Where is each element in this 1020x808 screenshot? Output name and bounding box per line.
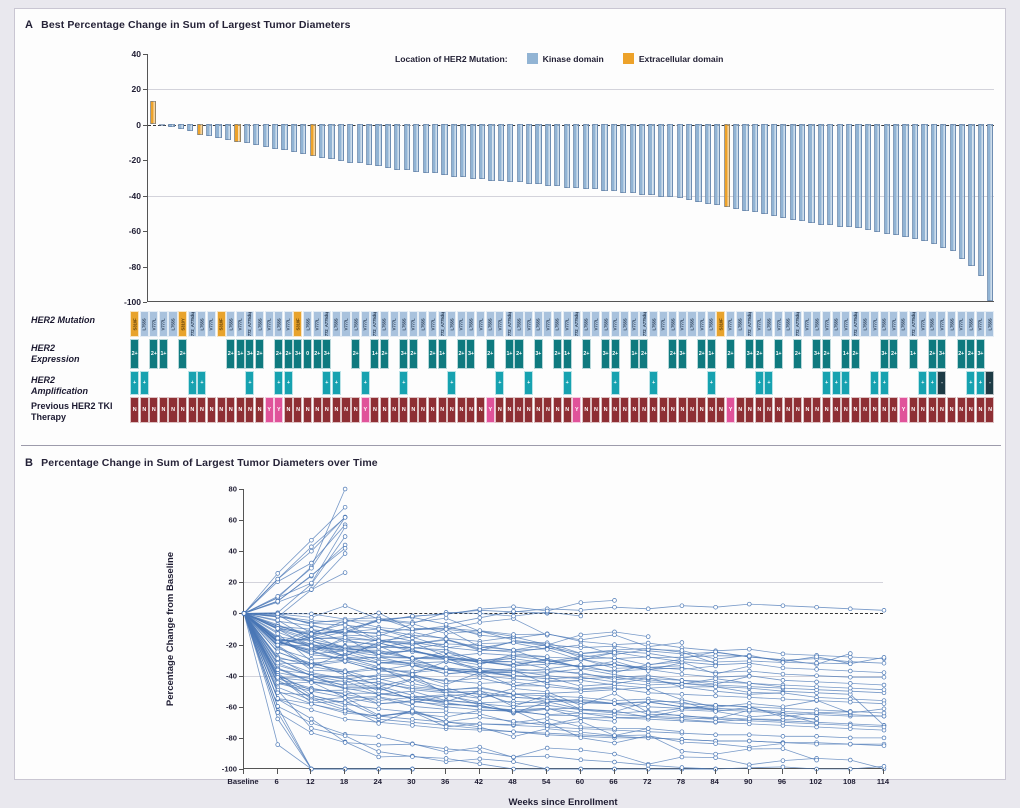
patient-trajectory-marker	[343, 629, 347, 633]
annotation-cell-text: N	[181, 407, 185, 413]
waterfall-bar	[921, 124, 927, 241]
annotation-cell-amplification: +	[649, 371, 658, 395]
annotation-cell-text: 2+	[612, 351, 618, 357]
patient-trajectory-marker	[310, 681, 314, 685]
annotation-cell-text: N	[834, 407, 838, 413]
patient-trajectory-marker	[646, 686, 650, 690]
patient-trajectory-marker	[377, 743, 381, 747]
patient-trajectory-marker	[848, 675, 852, 679]
annotation-cell-mutation: L755S	[832, 311, 841, 337]
patient-trajectory-marker	[310, 573, 314, 577]
panel-a: A Best Percentage Change in Sum of Large…	[15, 9, 1007, 433]
patient-trajectory-marker	[747, 659, 751, 663]
annotation-cell-tki: N	[418, 397, 427, 423]
annotation-cell-expression: 2+	[226, 339, 235, 369]
annotation-cell-text: N	[892, 407, 896, 413]
patient-trajectory-marker	[310, 675, 314, 679]
annotation-cell-text: 2+	[795, 351, 801, 357]
annotation-cell-text: V777L	[392, 318, 397, 330]
annotation-cell-text: L755S	[814, 318, 819, 330]
annotation-cell-text: N	[623, 407, 627, 413]
patient-trajectory-marker	[310, 588, 314, 592]
annotation-cell-mutation: L755S	[928, 311, 937, 337]
patient-trajectory-marker	[714, 660, 718, 664]
annotation-row-label-tki: Previous HER2 TKI Therapy	[31, 401, 113, 422]
patient-trajectory-marker	[310, 731, 314, 735]
annotation-cell-text: V777L	[757, 318, 762, 330]
annotation-cell-expression: 2+	[380, 339, 389, 369]
patient-trajectory-marker	[512, 652, 516, 656]
annotation-cell-expression: 2+	[514, 339, 523, 369]
patient-trajectory-marker	[680, 679, 684, 683]
patient-trajectory-marker	[276, 676, 280, 680]
annotation-cell-expression: 0	[303, 339, 312, 369]
annotation-cell-text: 2+	[670, 351, 676, 357]
annotation-cell-text: Y772_A775dup	[324, 311, 329, 337]
patient-trajectory-marker	[613, 752, 617, 756]
patient-trajectory-marker	[343, 525, 347, 529]
annotation-cell-mutation: V777L	[803, 311, 812, 337]
annotation-cell-mutation: V777L	[428, 311, 437, 337]
annotation-cell-text: L755S	[382, 318, 387, 330]
panel-b-x-tick-label: 30	[407, 777, 415, 786]
annotation-cell-mutation: L755S	[649, 311, 658, 337]
panel-a-y-axis-ticks: 40200-20-40-60-80-100	[111, 54, 147, 302]
patient-trajectory-marker	[343, 684, 347, 688]
patient-trajectory-marker	[579, 601, 583, 605]
annotation-cell-tki: N	[909, 397, 918, 423]
patient-trajectory-marker	[815, 674, 819, 678]
annotation-cell-tki: N	[514, 397, 523, 423]
panel-a-annotation-table: HER2 MutationS310FL755SV777LV777LL755SS3…	[15, 309, 1007, 427]
annotation-cell-tki: N	[860, 397, 869, 423]
patient-trajectory-marker	[310, 616, 314, 620]
patient-trajectory-marker	[310, 581, 314, 585]
patient-trajectory-marker	[747, 717, 751, 721]
annotation-cell-expression: 3+	[245, 339, 254, 369]
annotation-cell-text: 3+	[814, 351, 820, 357]
patient-trajectory-marker	[613, 691, 617, 695]
waterfall-bar	[592, 124, 598, 190]
patient-trajectory-marker	[613, 709, 617, 713]
patient-trajectory-marker	[411, 669, 415, 673]
waterfall-bar	[357, 124, 363, 163]
patient-trajectory-marker	[411, 693, 415, 697]
annotation-cell-mutation: L755S	[486, 311, 495, 337]
patient-trajectory-marker	[747, 664, 751, 668]
annotation-cell-mutation: L755S	[601, 311, 610, 337]
patient-trajectory-marker	[714, 710, 718, 714]
annotation-cell-text: 2+	[891, 351, 897, 357]
waterfall-bar	[470, 124, 476, 179]
patient-trajectory-marker	[310, 538, 314, 542]
annotation-cell-tki: N	[745, 397, 754, 423]
panel-b-title: Percentage Change in Sum of Largest Tumo…	[41, 457, 378, 469]
waterfall-bar	[526, 124, 532, 184]
patient-trajectory-marker	[310, 566, 314, 570]
annotation-cell-tki: N	[947, 397, 956, 423]
annotation-cell-mutation: L755S	[303, 311, 312, 337]
annotation-cell-text: N	[450, 407, 454, 413]
annotation-cell-text: +	[883, 380, 886, 386]
patient-trajectory-marker	[680, 700, 684, 704]
annotation-cell-mutation: L755S	[332, 311, 341, 337]
annotation-cell-mutation: Y772_A775dup	[793, 311, 802, 337]
patient-trajectory-marker	[680, 749, 684, 753]
patient-trajectory-marker	[512, 660, 516, 664]
patient-trajectory-marker	[377, 707, 381, 711]
patient-trajectory-marker	[377, 645, 381, 649]
annotation-cell-tki: N	[524, 397, 533, 423]
waterfall-bar	[611, 124, 617, 191]
annotation-cell-text: 0	[306, 351, 309, 357]
annotation-cell-text: 2+	[728, 351, 734, 357]
patient-trajectory-marker	[747, 647, 751, 651]
waterfall-bar	[554, 124, 560, 186]
panel-b-letter: B	[25, 457, 33, 469]
patient-trajectory-marker	[377, 722, 381, 726]
annotation-cell-text: N	[306, 407, 310, 413]
panel-b-x-tick-label: 18	[340, 777, 348, 786]
patient-trajectory-marker	[512, 641, 516, 645]
annotation-cell-text: L755S	[305, 318, 310, 330]
annotation-cell-expression: 2+	[409, 339, 418, 369]
patient-trajectory-marker	[343, 650, 347, 654]
patient-trajectory-marker	[882, 661, 886, 665]
waterfall-bar	[912, 124, 918, 239]
patient-trajectory-marker	[444, 650, 448, 654]
annotation-cell-text: V777L	[959, 318, 964, 330]
patient-trajectory-marker	[343, 516, 347, 520]
patient-trajectory-marker	[444, 666, 448, 670]
annotation-cell-mutation: L755S	[399, 311, 408, 337]
annotation-cell-text: -	[941, 380, 943, 386]
annotation-cell-mutation: V777L	[361, 311, 370, 337]
patient-trajectory-marker	[276, 657, 280, 661]
annotation-cell-text: L755S	[786, 318, 791, 330]
waterfall-bar	[639, 124, 645, 195]
annotation-cell-text: N	[940, 407, 944, 413]
annotation-cell-text: N	[556, 407, 560, 413]
panel-a-gridline	[148, 89, 994, 90]
annotation-cell-text: 2+	[968, 351, 974, 357]
annotation-cell-text: V777L	[891, 318, 896, 330]
annotation-cell-text: L755S	[766, 318, 771, 330]
annotation-cell-text: +	[498, 380, 501, 386]
patient-trajectory-marker	[377, 750, 381, 754]
panel-divider	[21, 445, 1001, 446]
patient-trajectory-marker	[815, 668, 819, 672]
patient-trajectory-marker	[781, 652, 785, 656]
annotation-cell-text: 2+	[382, 351, 388, 357]
annotation-cell-text: Y772_A775dup	[747, 311, 752, 337]
annotation-cell-expression: 2+	[486, 339, 495, 369]
annotation-cell-amplification: +	[130, 371, 139, 395]
waterfall-bar	[178, 124, 184, 129]
patient-trajectory-marker	[377, 702, 381, 706]
patient-trajectory-marker	[882, 725, 886, 729]
panel-b-x-axis-label: Weeks since Enrollment	[243, 797, 883, 808]
annotation-cell-text: N	[854, 407, 858, 413]
annotation-cell-text: L755S	[228, 318, 233, 330]
annotation-cell-mutation: V777L	[409, 311, 418, 337]
waterfall-bar	[837, 124, 843, 227]
waterfall-bar	[423, 124, 429, 174]
annotation-cell-text: 1+	[776, 351, 782, 357]
patient-trajectory-marker	[646, 691, 650, 695]
waterfall-bar	[950, 124, 956, 252]
patient-trajectory-marker	[478, 616, 482, 620]
waterfall-bar	[771, 124, 777, 216]
annotation-cell-mutation: L755S	[274, 311, 283, 337]
patient-trajectory-marker	[545, 731, 549, 735]
annotation-cell-tki: N	[668, 397, 677, 423]
annotation-cell-tki: N	[649, 397, 658, 423]
annotation-cell-text: L755S	[257, 318, 262, 330]
patient-trajectory-marker	[444, 692, 448, 696]
annotation-cell-mutation: V777L	[755, 311, 764, 337]
patient-trajectory-marker	[882, 656, 886, 660]
waterfall-bar	[846, 124, 852, 227]
annotation-cell-tki: N	[918, 397, 927, 423]
annotation-cell-tki: N	[812, 397, 821, 423]
annotation-cell-text: +	[277, 380, 280, 386]
annotation-cell-text: V777L	[776, 318, 781, 330]
annotation-cell-text: 1+	[507, 351, 513, 357]
annotation-cell-mutation: V777L	[659, 311, 668, 337]
patient-trajectory-line	[244, 489, 345, 613]
panel-a-y-axis-label: Percentage Change from Baseline	[0, 54, 7, 302]
patient-trajectory-marker	[815, 711, 819, 715]
annotation-cell-text: 1+	[161, 351, 167, 357]
patient-trajectory-marker	[579, 720, 583, 724]
patient-trajectory-marker	[714, 752, 718, 756]
waterfall-bar	[488, 124, 494, 181]
patient-trajectory-marker	[613, 605, 617, 609]
annotation-cell-amplification: +	[764, 371, 773, 395]
waterfall-bar	[799, 124, 805, 221]
annotation-cell-mutation: L755S	[140, 311, 149, 337]
annotation-cell-text: N	[978, 407, 982, 413]
annotation-cell-text: Y772_A775dup	[641, 311, 646, 337]
annotation-cell-text: 2+	[853, 351, 859, 357]
annotation-cell-expression: 2+	[178, 339, 187, 369]
annotation-track-expression: 2+2+1+2+2+1+3+2+2+2+3+02+3+2+1+2+3+2+2+1…	[130, 339, 995, 369]
patient-trajectory-marker	[882, 671, 886, 675]
patient-trajectory-marker	[646, 727, 650, 731]
patient-trajectory-marker	[377, 639, 381, 643]
annotation-cell-text: 2+	[257, 351, 263, 357]
patient-trajectory-marker	[478, 651, 482, 655]
patient-trajectory-marker	[512, 687, 516, 691]
annotation-cell-expression: 1+	[841, 339, 850, 369]
waterfall-bar	[780, 124, 786, 218]
patient-trajectory-marker	[781, 715, 785, 719]
annotation-cell-text: L755S	[488, 318, 493, 330]
panel-b-x-tick-label: 54	[542, 777, 550, 786]
panel-b-x-tick-mark	[681, 769, 682, 774]
annotation-cell-mutation: L755S	[620, 311, 629, 337]
annotation-cell-tki: Y	[265, 397, 274, 423]
annotation-cell-amplification: +	[563, 371, 572, 395]
annotation-cell-text: 3+	[247, 351, 253, 357]
annotation-cell-expression: 3+	[812, 339, 821, 369]
patient-trajectory-marker	[613, 727, 617, 731]
annotation-cell-tki: N	[639, 397, 648, 423]
patient-trajectory-marker	[310, 549, 314, 553]
annotation-cell-amplification: +	[245, 371, 254, 395]
annotation-cell-text: N	[757, 407, 761, 413]
patient-trajectory-marker	[747, 739, 751, 743]
panel-b-x-tick-label: 12	[306, 777, 314, 786]
patient-trajectory-marker	[343, 701, 347, 705]
annotation-cell-tki: N	[476, 397, 485, 423]
annotation-cell-tki: N	[841, 397, 850, 423]
annotation-cell-mutation: Y772_A775dup	[322, 311, 331, 337]
annotation-cell-text: L755S	[199, 318, 204, 330]
annotation-cell-tki: N	[889, 397, 898, 423]
annotation-cell-tki: N	[149, 397, 158, 423]
annotation-cell-text: N	[911, 407, 915, 413]
annotation-row-label-expression: HER2 Expression	[31, 343, 80, 364]
patient-trajectory-marker	[310, 651, 314, 655]
annotation-cell-text: N	[411, 407, 415, 413]
waterfall-bar	[263, 124, 269, 147]
patient-trajectory-marker	[545, 655, 549, 659]
patient-trajectory-marker	[444, 627, 448, 631]
patient-trajectory-marker	[478, 762, 482, 766]
patient-trajectory-marker	[781, 742, 785, 746]
annotation-cell-expression: 2+	[755, 339, 764, 369]
patient-trajectory-marker	[343, 709, 347, 713]
panel-a-y-tick-label: 0	[136, 120, 141, 130]
annotation-cell-text: N	[315, 407, 319, 413]
annotation-cell-mutation: V777L	[284, 311, 293, 337]
figure-container: A Best Percentage Change in Sum of Large…	[14, 8, 1006, 780]
annotation-cell-text: Y772_A775dup	[440, 311, 445, 337]
patient-trajectory-marker	[680, 668, 684, 672]
annotation-cell-text: V777L	[920, 318, 925, 330]
patient-trajectory-marker	[343, 741, 347, 745]
annotation-cell-text: N	[200, 407, 204, 413]
patient-trajectory-marker	[478, 607, 482, 611]
patient-trajectory-marker	[815, 685, 819, 689]
annotation-cell-text: +	[710, 380, 713, 386]
annotation-cell-text: V777L	[430, 318, 435, 330]
annotation-cell-amplification: +	[447, 371, 456, 395]
annotation-cell-text: N	[969, 407, 973, 413]
annotation-cell-text: L755S	[882, 318, 887, 330]
patient-trajectory-marker	[411, 709, 415, 713]
patient-trajectory-marker	[545, 675, 549, 679]
patient-trajectory-marker	[478, 750, 482, 754]
annotation-cell-expression: 3+	[678, 339, 687, 369]
annotation-cell-text: V777L	[238, 318, 243, 330]
annotation-cell-mutation: Y772_A775dup	[851, 311, 860, 337]
annotation-cell-expression: 2+	[851, 339, 860, 369]
annotation-cell-expression: 2+	[582, 339, 591, 369]
annotation-cell-text: 2+	[583, 351, 589, 357]
annotation-cell-tki: N	[351, 397, 360, 423]
panel-b-trajectories	[244, 489, 884, 769]
patient-trajectory-marker	[680, 755, 684, 759]
patient-trajectory-marker	[545, 706, 549, 710]
annotation-cell-mutation: L755S	[736, 311, 745, 337]
patient-trajectory-marker	[781, 685, 785, 689]
patient-trajectory-marker	[646, 635, 650, 639]
annotation-cell-text: S310Y	[180, 318, 185, 330]
annotation-cell-text: 3+	[603, 351, 609, 357]
patient-trajectory-marker	[545, 632, 549, 636]
patient-trajectory-marker	[411, 645, 415, 649]
annotation-cell-mutation: L755S	[764, 311, 773, 337]
waterfall-bar	[159, 124, 165, 126]
patient-trajectory-marker	[512, 680, 516, 684]
annotation-cell-text: V777L	[545, 318, 550, 330]
annotation-cell-tki: N	[774, 397, 783, 423]
patient-trajectory-marker	[579, 758, 583, 762]
patient-trajectory-marker	[444, 643, 448, 647]
annotation-cell-text: L755S	[738, 318, 743, 330]
annotation-cell-tki: N	[438, 397, 447, 423]
annotation-cell-mutation: V777L	[937, 311, 946, 337]
patient-trajectory-marker	[747, 705, 751, 709]
annotation-cell-amplification: +	[361, 371, 370, 395]
annotation-cell-text: N	[825, 407, 829, 413]
annotation-cell-tki: Y	[274, 397, 283, 423]
panel-b: B Percentage Change in Sum of Largest Tu…	[15, 449, 1007, 779]
patient-trajectory-marker	[781, 691, 785, 695]
annotation-cell-expression: 1+	[774, 339, 783, 369]
annotation-cell-text: V777L	[363, 318, 368, 330]
patient-trajectory-marker	[545, 670, 549, 674]
annotation-cell-tki: Y	[486, 397, 495, 423]
annotation-cell-text: 3+	[324, 351, 330, 357]
panel-a-y-tick-label: 40	[132, 49, 141, 59]
annotation-cell-text: L755S	[353, 318, 358, 330]
annotation-cell-text: L755S	[517, 318, 522, 330]
annotation-cell-text: 2+	[487, 351, 493, 357]
annotation-cell-text: N	[431, 407, 435, 413]
panel-b-x-tick-label: 42	[475, 777, 483, 786]
annotation-cell-text: 2+	[458, 351, 464, 357]
panel-b-x-tick-mark	[580, 769, 581, 774]
patient-trajectory-marker	[747, 669, 751, 673]
annotation-cell-text: N	[219, 407, 223, 413]
panel-b-x-tick-mark	[310, 769, 311, 774]
patient-trajectory-marker	[377, 651, 381, 655]
panel-a-y-tick-label: -40	[129, 191, 141, 201]
patient-trajectory-marker	[444, 672, 448, 676]
waterfall-bar	[517, 124, 523, 182]
waterfall-bar	[940, 124, 946, 248]
patient-trajectory-marker	[478, 715, 482, 719]
patient-trajectory-marker	[646, 641, 650, 645]
annotation-cell-text: V777L	[939, 318, 944, 330]
annotation-cell-tki: N	[764, 397, 773, 423]
patient-trajectory-marker	[377, 632, 381, 636]
annotation-cell-tki: N	[822, 397, 831, 423]
annotation-cell-text: Y772_A775dup	[795, 311, 800, 337]
annotation-cell-text: N	[296, 407, 300, 413]
annotation-cell-text: 2+	[824, 351, 830, 357]
panel-a-y-tick-label: -80	[129, 262, 141, 272]
annotation-cell-expression: 1+	[563, 339, 572, 369]
patient-trajectory-marker	[343, 717, 347, 721]
waterfall-bar	[818, 124, 824, 225]
panel-b-x-tick-mark	[614, 769, 615, 774]
annotation-cell-text: V777L	[478, 318, 483, 330]
